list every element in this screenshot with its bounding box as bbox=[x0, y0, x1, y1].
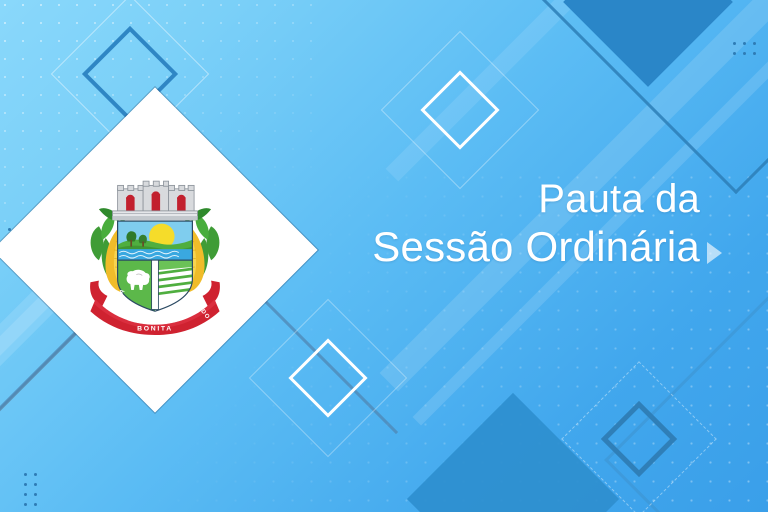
diamond-outline-blue bbox=[601, 401, 677, 477]
triangle-accent-top-right bbox=[563, 0, 733, 87]
diagonal-band bbox=[386, 0, 611, 181]
diamond-outline-white bbox=[420, 70, 499, 149]
coat-of-arms-icon: LAGOA BONITA DO SUL bbox=[70, 165, 240, 335]
diamond-outline-faint bbox=[381, 31, 539, 189]
title-line-2: Sessão Ordinária bbox=[372, 222, 700, 272]
title-line-1: Pauta da bbox=[372, 176, 700, 222]
ribbon-text-center: BONITA bbox=[137, 326, 173, 333]
emblem-container: LAGOA BONITA DO SUL bbox=[40, 135, 270, 365]
banner-graphic: LAGOA BONITA DO SUL Pauta da Sessão Ordi… bbox=[0, 0, 768, 512]
triangle-right-icon bbox=[707, 242, 722, 264]
diamond-outline-faint bbox=[249, 299, 407, 457]
dot-cluster-top-right bbox=[733, 42, 756, 55]
triangle-accent-bottom-left bbox=[407, 393, 619, 512]
banner-title: Pauta da Sessão Ordinária bbox=[372, 176, 700, 272]
dot-cluster-bottom-left bbox=[24, 473, 37, 506]
diamond-outline-white bbox=[288, 338, 367, 417]
ribbon-text-left: LAGOA bbox=[106, 288, 127, 313]
chevron-stroke-right bbox=[604, 276, 768, 512]
